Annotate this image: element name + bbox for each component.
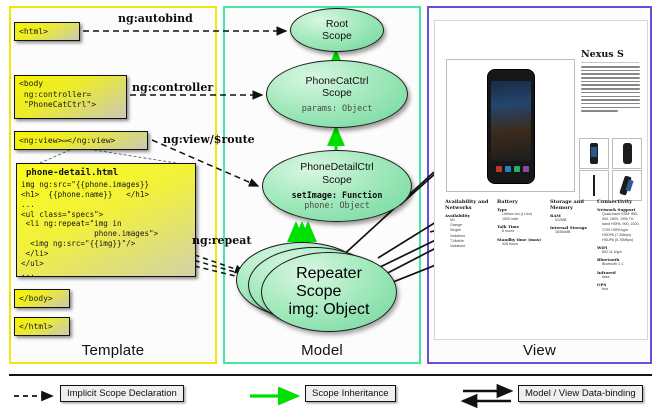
- view-phone-detail-page: Nexus S Availability and NetworksAvailab…: [434, 20, 648, 340]
- scope-name-line: PhoneDetailCtrl: [300, 161, 374, 173]
- hero-phone-screen: [491, 81, 531, 161]
- spec-row-value: Vodafone: [445, 244, 495, 249]
- title-divider: [581, 62, 639, 63]
- spec-column: Storage and MemoryRAM512MBInternal Stora…: [550, 199, 600, 235]
- scope-name-line: Scope: [322, 30, 352, 42]
- section-label-view: View: [429, 342, 650, 359]
- description-line: [581, 81, 640, 83]
- hero-icon-2: [505, 166, 511, 172]
- spec-row-value: 6 hours: [497, 229, 547, 234]
- note-phone-detail-html: phone-detail.html img ng:src="{{phone.im…: [16, 163, 196, 277]
- scope-repeater-name: RepeaterScope: [296, 265, 362, 301]
- spec-row-value: false: [597, 275, 647, 280]
- legend-scope-inheritance: Scope Inheritance: [305, 385, 396, 402]
- description-line: [581, 70, 640, 72]
- spec-row-value: 16384MB: [550, 230, 600, 235]
- scope-name-line: PhoneCatCtrl: [305, 75, 368, 87]
- hero-icon-4: [523, 166, 529, 172]
- code-body-open: <body ng:controller= "PhoneCatCtrl">: [14, 75, 127, 119]
- angular-scope-diagram: Template Model View: [0, 0, 660, 420]
- code-html-close: </html>: [14, 317, 70, 336]
- code-ngview: <ng:view>▭</ng:view>: [14, 131, 148, 150]
- hero-image-frame: [446, 59, 575, 192]
- scope-repeater-props: img: Object: [289, 301, 370, 319]
- thumbnail-phone-front[interactable]: [579, 138, 609, 169]
- spec-row-label: Standby time (max): [497, 237, 547, 242]
- hero-icon-3: [514, 166, 520, 172]
- description-line: [581, 92, 640, 94]
- spec-row-value: true: [597, 287, 647, 292]
- thumbnail-phone-back[interactable]: [612, 138, 642, 169]
- label-ng-controller: ng:controller: [132, 81, 213, 94]
- scope-phonecatctrl: PhoneCatCtrlScope params: Object: [266, 60, 408, 128]
- repeater-scope-copy-3: RepeaterScope img: Object: [261, 252, 397, 332]
- section-label-template: Template: [11, 342, 215, 359]
- code-html-open: <html>: [14, 22, 80, 41]
- description-line: [581, 103, 640, 105]
- note-title: phone-detail.html: [17, 164, 195, 180]
- view-description: [581, 66, 640, 114]
- spec-row-value: 1500 mAh: [497, 217, 547, 222]
- prop-phone: phone: Object: [304, 200, 370, 210]
- thumbnail-phone-angled[interactable]: [612, 170, 642, 201]
- code-body-close: </body>: [14, 289, 70, 308]
- section-label-model: Model: [225, 342, 419, 359]
- description-line: [581, 73, 640, 75]
- label-ng-autobind: ng:autobind: [118, 12, 193, 25]
- description-line: [581, 99, 640, 101]
- scope-root-name: RootScope: [322, 18, 352, 42]
- scope-phonecatctrl-name: PhoneCatCtrlScope: [305, 75, 368, 99]
- scope-name-line: Scope: [322, 174, 352, 186]
- scope-phonedetailctrl-props: setImage: Function phone: Object: [292, 190, 383, 211]
- scope-phonedetailctrl: PhoneDetailCtrlScope setImage: Function …: [262, 150, 412, 222]
- scope-name-line: Scope: [296, 283, 341, 300]
- thumbnail-phone-side[interactable]: [579, 170, 609, 201]
- spec-row-value: Bluetooth 2.1: [597, 262, 647, 267]
- scope-name-line: Repeater: [296, 265, 362, 282]
- scope-phonedetailctrl-name: PhoneDetailCtrlScope: [300, 161, 374, 185]
- description-line: [581, 66, 640, 68]
- note-code: img ng:src="{{phone.images}} <h1> {{phon…: [17, 180, 195, 279]
- description-line: [581, 96, 640, 98]
- prop-setimage: setImage: Function: [292, 190, 383, 200]
- label-ng-view-route: ng:view/$route: [163, 133, 255, 146]
- hero-phone-image: [487, 69, 535, 184]
- view-title: Nexus S: [581, 49, 624, 60]
- spec-column-heading: Connectivity: [597, 199, 647, 205]
- legend-data-binding: Model / View Data-binding: [518, 385, 643, 402]
- spec-row-value: 428 hours: [497, 242, 547, 247]
- legend-divider: [9, 374, 652, 376]
- legend-implicit-scope-declaration: Implicit Scope Declaration: [60, 385, 184, 402]
- description-line: [581, 88, 640, 90]
- spec-column-heading: Battery: [497, 199, 547, 205]
- spec-row-value: HSUPA (5.76Mbps): [597, 238, 647, 243]
- spec-column: ConnectivityNetwork SupportQuad-band GSM…: [597, 199, 647, 292]
- spec-column: BatteryTypeLithium Ion (Li-Ion)1500 mAhT…: [497, 199, 547, 247]
- scope-phonecatctrl-props: params: Object: [302, 103, 373, 114]
- scope-name-line: Scope: [322, 87, 352, 99]
- scope-root: RootScope: [290, 8, 384, 52]
- spec-column: Availability and NetworksAvailabilityM1O…: [445, 199, 495, 249]
- hero-icon-1: [496, 166, 502, 172]
- spec-row-value: 512MB: [550, 218, 600, 223]
- spec-column-heading: Storage and Memory: [550, 199, 600, 211]
- scope-name-line: Root: [326, 18, 348, 30]
- description-line: [581, 77, 640, 79]
- description-line: [581, 107, 640, 109]
- spec-row-value: 802.11 b/g/n: [597, 250, 647, 255]
- spec-column-heading: Availability and Networks: [445, 199, 495, 211]
- description-line: [581, 110, 618, 112]
- scope-repeater-stack: RepeaterScope img: Object: [236, 238, 411, 334]
- description-line: [581, 84, 640, 86]
